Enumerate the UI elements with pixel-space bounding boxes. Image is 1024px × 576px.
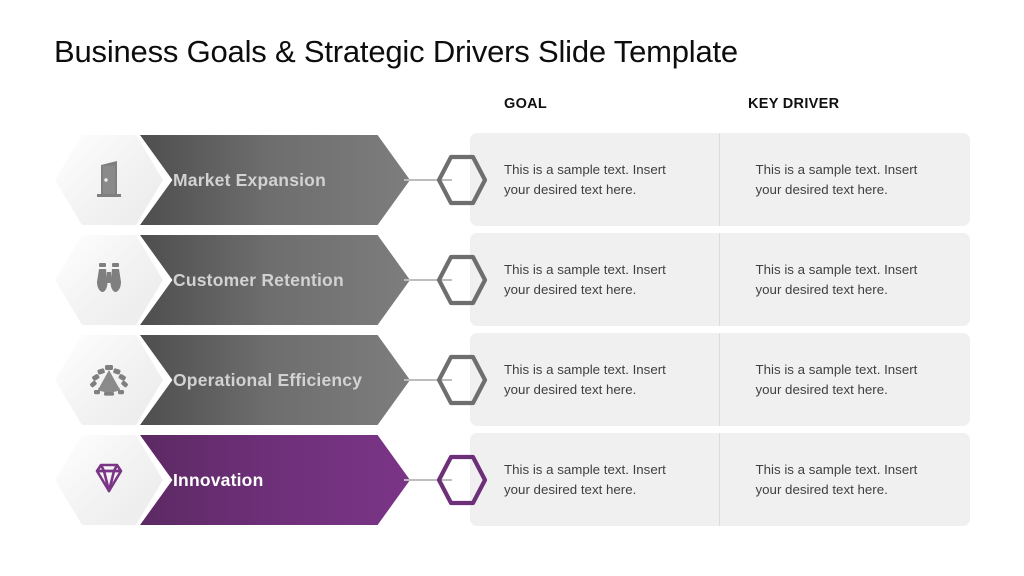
icon-hexagon (55, 135, 163, 225)
marker-hexagon[interactable] (434, 152, 490, 208)
goal-cell[interactable]: This is a sample text. Insert your desir… (470, 133, 719, 226)
goal-cell[interactable]: This is a sample text. Insert your desir… (470, 433, 719, 526)
key-driver-text: This is a sample text. Insert your desir… (756, 160, 946, 199)
table-row[interactable]: Innovation This is a sample text. Insert… (0, 433, 1024, 526)
row-panel: This is a sample text. Insert your desir… (470, 233, 970, 326)
marker-hexagon[interactable] (434, 352, 490, 408)
table-row[interactable]: Operational Efficiency This is a sample … (0, 333, 1024, 426)
row-label: Operational Efficiency (173, 370, 362, 391)
key-driver-text: This is a sample text. Insert your desir… (756, 260, 946, 299)
row-chevron[interactable]: Innovation (140, 435, 410, 525)
key-driver-cell[interactable]: This is a sample text. Insert your desir… (719, 333, 971, 426)
goal-text: This is a sample text. Insert your desir… (504, 460, 694, 499)
row-chevron[interactable]: Customer Retention (140, 235, 410, 325)
goal-text: This is a sample text. Insert your desir… (504, 360, 694, 399)
row-chevron[interactable]: Market Expansion (140, 135, 410, 225)
diamond-icon (86, 460, 132, 500)
icon-hexagon (55, 335, 163, 425)
conference-table-icon (86, 361, 132, 399)
row-label: Customer Retention (173, 270, 344, 291)
row-panel: This is a sample text. Insert your desir… (470, 433, 970, 526)
key-driver-cell[interactable]: This is a sample text. Insert your desir… (719, 433, 971, 526)
goal-text: This is a sample text. Insert your desir… (504, 260, 694, 299)
table-row[interactable]: Customer Retention This is a sample text… (0, 233, 1024, 326)
row-chevron[interactable]: Operational Efficiency (140, 335, 410, 425)
marker-hexagon[interactable] (434, 452, 490, 508)
key-driver-cell[interactable]: This is a sample text. Insert your desir… (719, 233, 971, 326)
key-driver-text: This is a sample text. Insert your desir… (756, 460, 946, 499)
open-door-icon (89, 159, 129, 201)
row-label: Market Expansion (173, 170, 326, 191)
goal-cell[interactable]: This is a sample text. Insert your desir… (470, 333, 719, 426)
goal-cell[interactable]: This is a sample text. Insert your desir… (470, 233, 719, 326)
marker-hexagon[interactable] (434, 252, 490, 308)
column-header-key-driver: KEY DRIVER (748, 96, 839, 112)
column-header-goal: GOAL (504, 96, 547, 112)
icon-hexagon (55, 235, 163, 325)
binoculars-icon (88, 260, 130, 300)
icon-hexagon (55, 435, 163, 525)
rows-container: Market Expansion This is a sample text. … (0, 133, 1024, 533)
row-panel: This is a sample text. Insert your desir… (470, 133, 970, 226)
row-panel: This is a sample text. Insert your desir… (470, 333, 970, 426)
table-row[interactable]: Market Expansion This is a sample text. … (0, 133, 1024, 226)
key-driver-text: This is a sample text. Insert your desir… (756, 360, 946, 399)
page-title: Business Goals & Strategic Drivers Slide… (54, 34, 738, 70)
goal-text: This is a sample text. Insert your desir… (504, 160, 694, 199)
key-driver-cell[interactable]: This is a sample text. Insert your desir… (719, 133, 971, 226)
row-label: Innovation (173, 470, 263, 491)
